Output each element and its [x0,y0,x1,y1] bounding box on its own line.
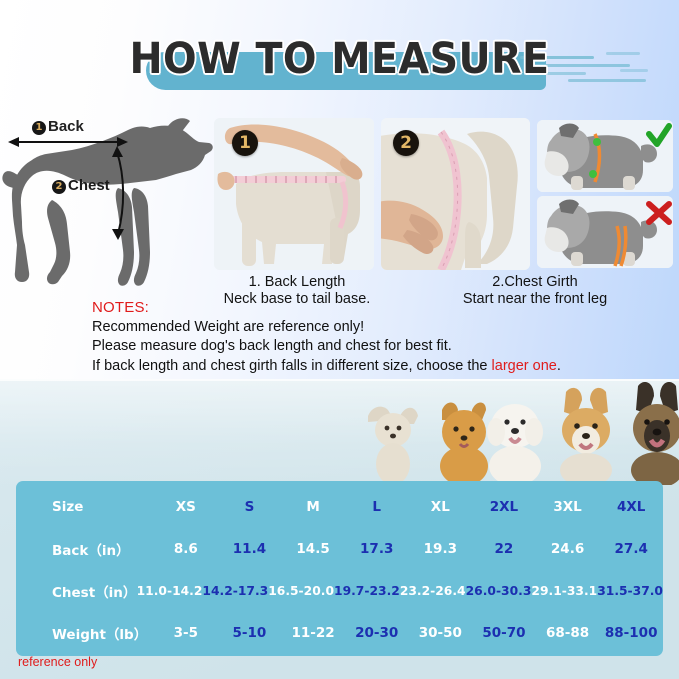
cell-size-xl: XL [409,499,473,515]
row-label-chest: Chest（in） [34,581,137,601]
cell-chest-l: 19.7-23.2 [334,584,400,598]
chest-label-text: Chest [68,177,110,194]
cell-weight-xs: 3-5 [154,625,218,641]
cell-chest-2xl: 26.0-30.3 [466,584,532,598]
back-measure-label: 1Back [32,118,84,135]
cell-chest-3xl: 29.1-33.1 [531,584,597,598]
cell-weight-s: 5-10 [218,625,282,641]
cell-size-3xl: 3XL [536,499,600,515]
row-label-size: Size [34,499,154,515]
panel-1-badge: 1 [232,130,258,156]
row-label-back: Back（in） [34,539,154,559]
row-label-weight: Weight（lb） [34,623,154,643]
correct-dog-illustration [537,120,673,192]
cell-weight-xl: 30-50 [409,625,473,641]
table-row-weight: Weight（lb） 3-5 5-10 11-22 20-30 30-50 50… [16,613,663,653]
cell-chest-4xl: 31.5-37.0 [597,584,663,598]
cell-back-3xl: 24.6 [536,541,600,557]
notes-line-3: If back length and chest girth falls in … [92,357,662,377]
title-banner: HOW TO MEASURE [0,34,679,96]
notes-block: NOTES: Recommended Weight are reference … [92,298,662,376]
dog-silhouette-diagram: 1Back 2Chest [0,112,215,290]
dog-size-photo-strip [350,382,679,485]
caption-chest-line1: 2.Chest Girth [440,274,630,291]
incorrect-example-photo [537,196,673,268]
cell-chest-m: 16.5-20.0 [268,584,334,598]
cell-back-4xl: 27.4 [599,541,663,557]
cell-weight-l: 20-30 [345,625,409,641]
back-length-photo: 1 [214,118,374,270]
background-divider [0,379,679,381]
cell-back-xl: 19.3 [409,541,473,557]
notes-line-3-highlight: larger one [492,358,557,374]
page-title: HOW TO MEASURE [27,34,652,84]
notes-heading: NOTES: [92,298,662,318]
dog-strip-illustration [350,382,679,485]
back-label-text: Back [48,118,84,135]
notes-line-3-suffix: . [557,358,561,374]
size-chart-page: HOW TO MEASURE 1Back [0,0,679,679]
cell-weight-m: 11-22 [281,625,345,641]
notes-line-2: Please measure dog's back length and che… [92,337,662,357]
cell-back-xs: 8.6 [154,541,218,557]
dog-corgi [560,388,612,485]
cell-size-s: S [218,499,282,515]
table-row-chest: Chest（in） 11.0-14.2 14.2-17.3 16.5-20.0 … [16,571,663,611]
cell-size-xs: XS [154,499,218,515]
cell-size-l: L [345,499,409,515]
cell-back-s: 11.4 [218,541,282,557]
cell-chest-xs: 11.0-14.2 [137,584,203,598]
cell-size-2xl: 2XL [472,499,536,515]
notes-line-1: Recommended Weight are reference only! [92,318,662,338]
cell-weight-2xl: 50-70 [472,625,536,641]
chest-measure-label: 2Chest [52,177,110,194]
notes-line-3-prefix: If back length and chest girth falls in … [92,358,492,374]
chest-badge-icon: 2 [52,180,66,194]
cell-weight-4xl: 88-100 [599,625,663,641]
dog-chihuahua [368,407,418,485]
silhouette-svg [0,112,215,290]
chest-girth-photo: 2 [381,118,530,270]
dog-poodle [487,404,543,485]
size-table: Size XS S M L XL 2XL 3XL 4XL Back（in） 8.… [16,481,663,656]
cell-size-m: M [281,499,345,515]
cell-back-m: 14.5 [281,541,345,557]
table-row-size: Size XS S M L XL 2XL 3XL 4XL [16,487,663,527]
reference-only-note: reference only [18,655,97,669]
table-row-back: Back（in） 8.6 11.4 14.5 17.3 19.3 22 24.6… [16,529,663,569]
incorrect-dog-illustration [537,196,673,268]
cell-back-l: 17.3 [345,541,409,557]
cell-weight-3xl: 68-88 [536,625,600,641]
dog-pomeranian [440,403,488,486]
correct-example-photo [537,120,673,192]
panel-2-badge: 2 [393,130,419,156]
cell-size-4xl: 4XL [599,499,663,515]
cell-chest-s: 14.2-17.3 [202,584,268,598]
cell-back-2xl: 22 [472,541,536,557]
back-badge-icon: 1 [32,121,46,135]
cell-chest-xl: 23.2-26.4 [400,584,466,598]
dog-german-shepherd [631,382,679,485]
caption-back-line1: 1. Back Length [212,274,382,291]
